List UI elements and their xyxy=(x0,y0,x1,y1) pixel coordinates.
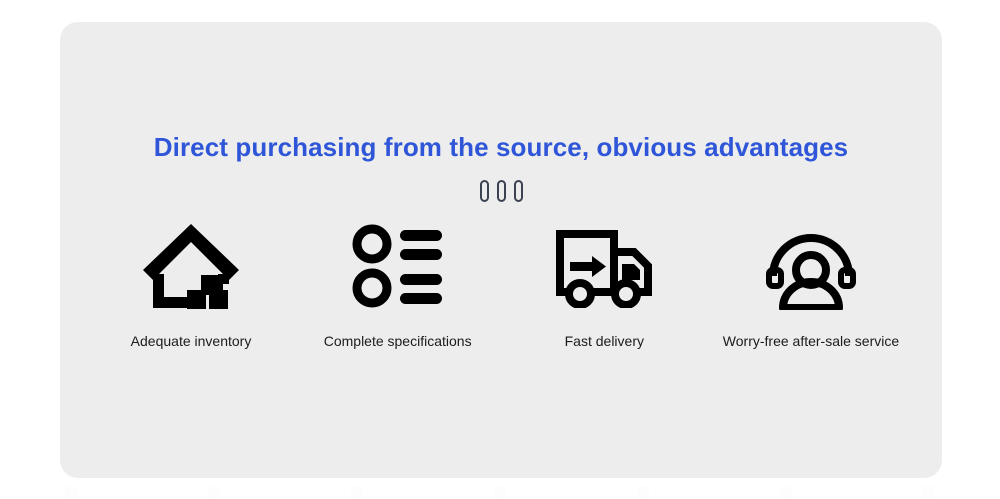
delivery-truck-icon xyxy=(554,220,654,312)
faint-chip xyxy=(208,486,220,499)
divider-pill-icon xyxy=(480,180,489,202)
faint-chip xyxy=(637,486,649,499)
feature-item-delivery: Fast delivery xyxy=(501,220,707,350)
feature-item-after-sale-service: Worry-free after-sale service xyxy=(708,220,914,350)
below-card-faint-strip xyxy=(0,486,1000,499)
faint-chip xyxy=(780,486,792,499)
divider-pill-icon xyxy=(514,180,523,202)
warehouse-inventory-icon xyxy=(139,220,243,312)
divider-pill-icon xyxy=(497,180,506,202)
feature-item-specifications: Complete specifications xyxy=(295,220,501,350)
faint-chip xyxy=(351,486,363,499)
feature-label: Adequate inventory xyxy=(131,332,252,350)
feature-label: Worry-free after-sale service xyxy=(723,332,899,350)
feature-list: Adequate inventory Complete specificatio… xyxy=(88,220,914,350)
faint-chip xyxy=(494,486,506,499)
page-background: Direct purchasing from the source, obvio… xyxy=(0,0,1000,499)
feature-item-inventory: Adequate inventory xyxy=(88,220,294,350)
headset-support-agent-icon xyxy=(763,220,859,312)
title-divider xyxy=(60,180,942,202)
faint-chip xyxy=(65,486,77,499)
advantages-feature-card: Direct purchasing from the source, obvio… xyxy=(60,22,942,478)
specification-list-icon xyxy=(350,220,446,312)
faint-chip xyxy=(922,486,934,499)
feature-label: Fast delivery xyxy=(565,332,644,350)
page-title: Direct purchasing from the source, obvio… xyxy=(60,132,942,163)
feature-label: Complete specifications xyxy=(324,332,472,350)
